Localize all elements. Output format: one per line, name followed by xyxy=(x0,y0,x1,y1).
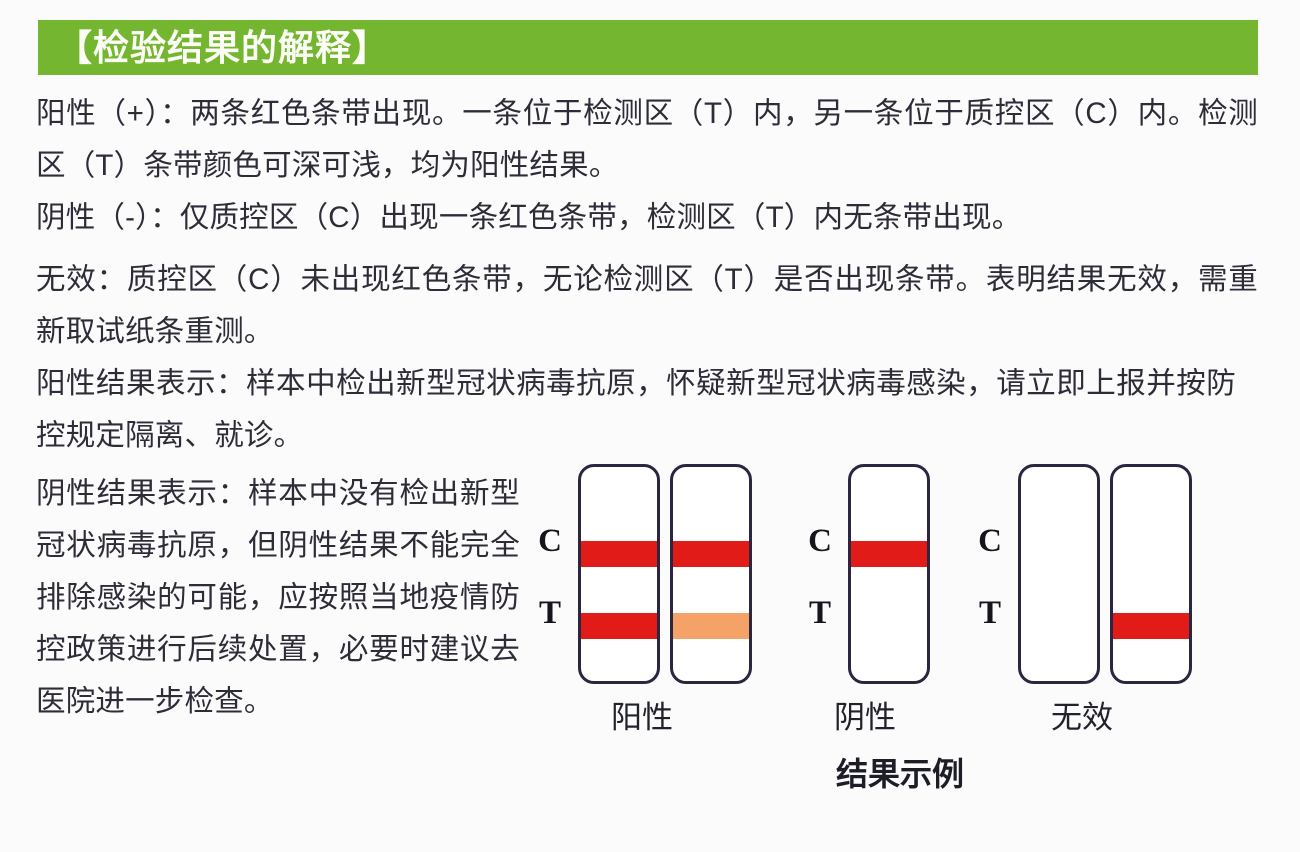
test-strip-positive-strong xyxy=(578,464,660,684)
test-band xyxy=(578,613,660,639)
control-band xyxy=(670,541,752,567)
control-line-label: C xyxy=(530,525,570,558)
test-line-label: T xyxy=(970,597,1010,630)
ct-axis-labels-negative: C T xyxy=(800,450,840,684)
ct-axis-labels-positive: C T xyxy=(530,450,570,684)
section-header-bar: 【检验结果的解释】 xyxy=(38,20,1258,75)
figure-caption: 结果示例 xyxy=(520,758,1280,790)
page-root: 【检验结果的解释】 阳性（+）：两条红色条带出现。一条位于检测区（T）内，另一条… xyxy=(0,0,1300,852)
ct-axis-labels-invalid: C T xyxy=(970,450,1010,684)
paragraph-positive-meaning: 阳性结果表示：样本中检出新型冠状病毒抗原，怀疑新型冠状病毒感染，请立即上报并按防… xyxy=(36,358,1236,462)
group-caption-positive: 阳性 xyxy=(530,702,754,733)
test-line-label: T xyxy=(530,597,570,630)
control-line-label: C xyxy=(970,525,1010,558)
group-caption-invalid: 无效 xyxy=(970,702,1194,733)
test-strip-invalid-blank xyxy=(1018,464,1100,684)
test-line-label: T xyxy=(800,597,840,630)
test-band xyxy=(1110,613,1192,639)
group-caption-negative: 阴性 xyxy=(800,702,930,733)
result-examples-diagram: C T 阳性 C T 阴性 xyxy=(520,450,1280,840)
paragraph-negative-definition: 阴性（-）：仅质控区（C）出现一条红色条带，检测区（T）内无条带出现。 xyxy=(36,192,1258,244)
paragraph-invalid-definition: 无效：质控区（C）未出现红色条带，无论检测区（T）是否出现条带。表明结果无效，需… xyxy=(36,254,1258,358)
paragraph-positive-definition: 阳性（+）：两条红色条带出现。一条位于检测区（T）内，另一条位于质控区（C）内。… xyxy=(36,88,1258,192)
control-band xyxy=(848,541,930,567)
paragraph-negative-meaning: 阴性结果表示：样本中没有检出新型冠状病毒抗原，但阴性结果不能完全排除感染的可能，… xyxy=(36,468,520,728)
test-strip-negative xyxy=(848,464,930,684)
control-band xyxy=(578,541,660,567)
test-band xyxy=(670,613,752,639)
page-title: 【检验结果的解释】 xyxy=(56,30,389,66)
test-strip-positive-faint xyxy=(670,464,752,684)
control-line-label: C xyxy=(800,525,840,558)
test-strip-invalid-test-only xyxy=(1110,464,1192,684)
